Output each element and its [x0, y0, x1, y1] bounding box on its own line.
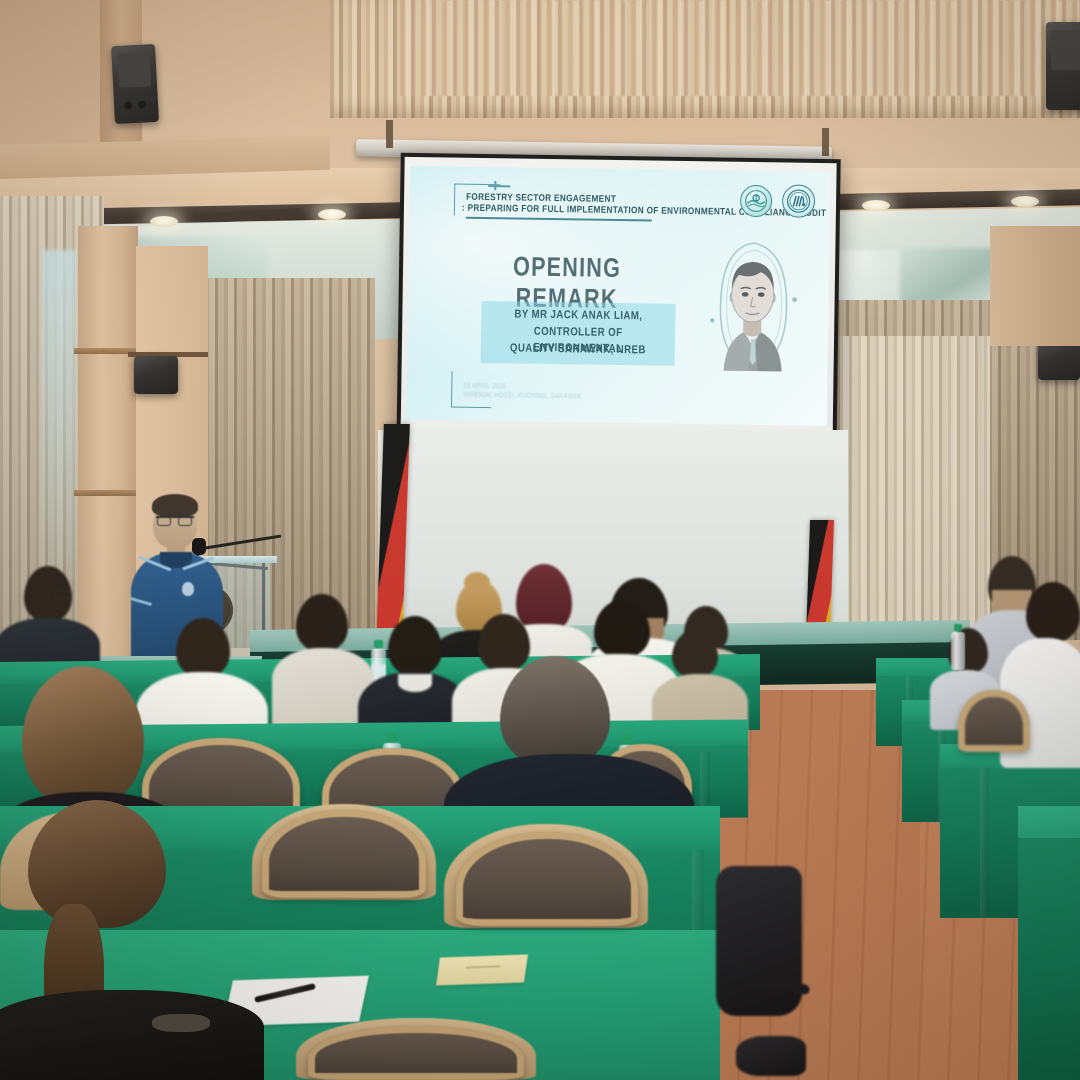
attendee-shoulder-highlight: [152, 1014, 210, 1032]
mineral-water-bottle: [950, 624, 966, 670]
attendee-head: [388, 616, 442, 676]
attendee-glasses-icon: [54, 590, 72, 599]
slide-tick-rule: [488, 185, 510, 187]
backpack: [716, 866, 802, 1016]
presentation-slide: FORESTRY SECTOR ENGAGEMENT : PREPARING F…: [407, 166, 831, 426]
attendee-hair: [22, 666, 144, 806]
speaker-portrait-illustration: [699, 228, 805, 380]
attendee-hair-bun: [464, 572, 490, 594]
ceiling-downlight: [150, 216, 178, 227]
attendee-head: [594, 600, 650, 658]
skirt-fold: [980, 768, 989, 918]
slide-subtitle-line-1: BY MR JACK ANAK LIAM,: [497, 306, 660, 325]
wall-right-panel: [990, 226, 1080, 346]
attendee-body: [0, 990, 264, 1080]
table-skirt: [1018, 838, 1080, 1080]
ceiling-downlight: [318, 209, 346, 220]
chair: [958, 690, 1030, 752]
bottle-body: [951, 632, 965, 670]
wall-speaker-far-right-icon: [1038, 342, 1080, 380]
bottle-cap: [387, 732, 397, 741]
shoe: [736, 1036, 806, 1076]
attendee-head: [1026, 582, 1080, 642]
speaker-glasses-lens-r: [178, 517, 192, 526]
speaker-glasses-lens-l: [157, 517, 171, 526]
attendee-head: [296, 594, 348, 652]
wall-speaker-right-icon: [1046, 22, 1080, 110]
attendee-head: [176, 618, 230, 678]
sarawak-flag-right: [806, 520, 834, 638]
conference-hall-photo: FORESTRY SECTOR ENGAGEMENT : PREPARING F…: [0, 0, 1080, 1080]
attendee-foreground-ponytail: [0, 800, 260, 1080]
speaker-shirt-badge: [182, 582, 194, 596]
ceiling-downlight: [1011, 196, 1039, 207]
ceiling-downlight: [862, 200, 890, 211]
fluted-ceiling-panel-inner: [400, 0, 1080, 96]
nreb-emblem-logo: [740, 185, 772, 217]
screen-mount-right: [822, 128, 829, 156]
chair: [308, 1026, 524, 1080]
attendee-head: [500, 656, 610, 768]
speaker-hair: [152, 494, 198, 517]
sarawak-agency-seal-logo: [782, 184, 815, 217]
slide-subtitle-line-3: QUALITY SARAWAK, NREB: [496, 340, 659, 359]
yellow-name-card: [436, 954, 528, 985]
screen-mount-left: [386, 120, 393, 148]
wall-speaker-mid-icon: [134, 356, 178, 394]
bottle-cap: [954, 624, 962, 631]
attendee-collar: [398, 674, 432, 692]
slide-footer-line-2: IMPERIAL HOTEL KUCHING, SARAWAK: [463, 391, 667, 405]
attendee-head: [28, 800, 166, 928]
curtain-light-streak: [42, 250, 76, 580]
wall-speaker-icon: [111, 44, 159, 124]
